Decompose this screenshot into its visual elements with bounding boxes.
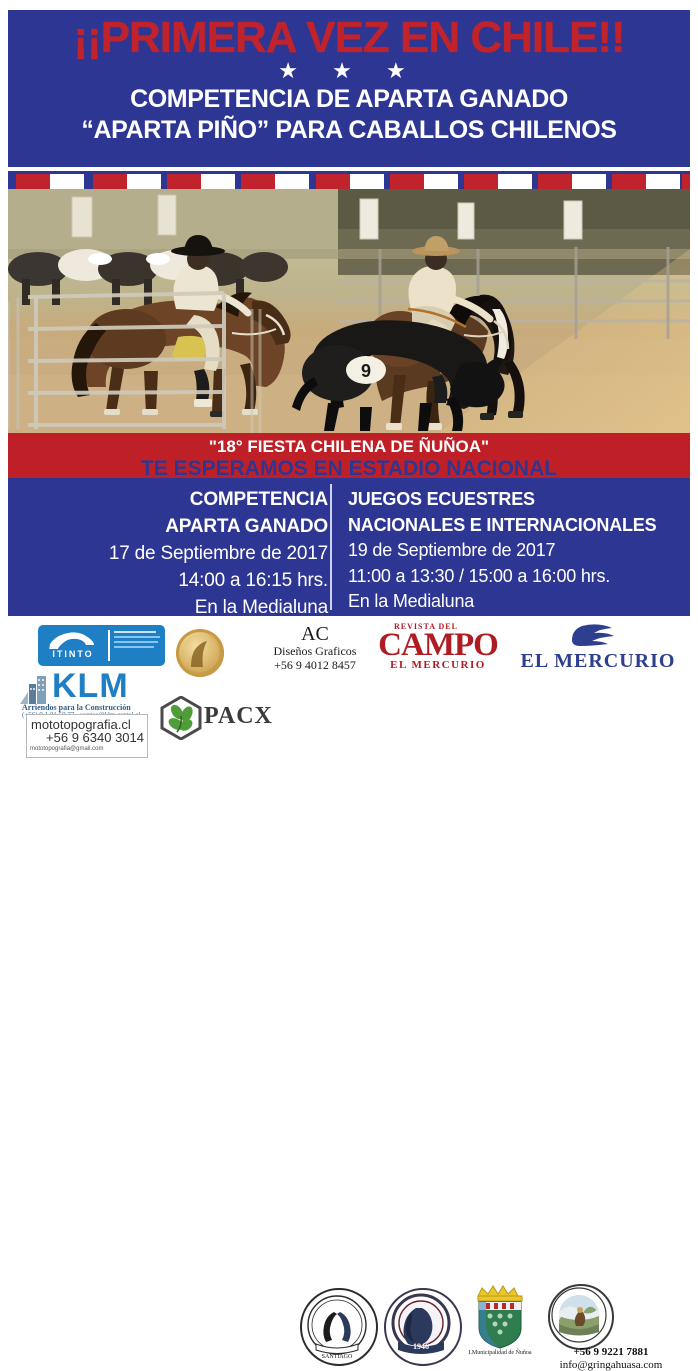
gringa-huasa-contact: +56 9 9221 7881 info@gringahuasa.com bbox=[536, 1346, 686, 1371]
sponsor-pacx-logo: PACX bbox=[160, 694, 285, 742]
poster-header: ¡¡PRIMERA VEZ EN CHILE!! ★ ★ ★ COMPETENC… bbox=[8, 10, 690, 167]
event1-date: 17 de Septiembre de 2017 bbox=[8, 541, 328, 568]
sponsor-mototopografia-box: mototopografia.cl +56 9 6340 3014 mototo… bbox=[26, 714, 148, 758]
gringa-huasa-email: info@gringahuasa.com bbox=[536, 1359, 686, 1371]
headline-competencia: COMPETENCIA DE APARTA GANADO bbox=[8, 84, 690, 115]
event2-title-line2: NACIONALES E INTERNACIONALES bbox=[348, 513, 690, 539]
banner-fiesta-title: "18° FIESTA CHILENA DE ÑUÑOA" bbox=[8, 433, 690, 457]
event-column-juegos: JUEGOS ECUESTRES NACIONALES E INTERNACIO… bbox=[348, 478, 690, 615]
sponsor-itinto-logo: ITINTO bbox=[38, 625, 165, 666]
sponsor-itinto-name: ITINTO bbox=[43, 649, 103, 659]
sponsor-seal-santiago: SANTIAGO bbox=[300, 1288, 378, 1366]
event1-title-line1: COMPETENCIA bbox=[8, 487, 328, 514]
checker-stripe bbox=[8, 171, 690, 189]
sponsor-pacx-name: PACX bbox=[204, 703, 273, 730]
headline-aparta-pino: “APARTA PIÑO” PARA CABALLOS CHILENOS bbox=[8, 115, 690, 146]
checker-block bbox=[464, 174, 498, 189]
seal-santiago-label: SANTIAGO bbox=[322, 1354, 353, 1360]
el-mercurio-name: EL MERCURIO bbox=[512, 651, 684, 671]
ac-phone: +56 9 4012 8457 bbox=[250, 659, 380, 673]
sponsor-footer: ITINTO KLM Arriendos para la Construcció… bbox=[0, 616, 698, 788]
checker-block bbox=[241, 174, 275, 189]
red-banner: "18° FIESTA CHILENA DE ÑUÑOA" TE ESPERAM… bbox=[8, 433, 690, 478]
municipalidad-label: I.Municipalidad de Ñuñoa bbox=[460, 1350, 540, 1356]
mountain-rider-photo-icon bbox=[550, 1286, 608, 1344]
checker-block bbox=[498, 174, 532, 189]
sponsor-revista-campo-logo: REVISTA DEL CAMPO EL MERCURIO bbox=[378, 622, 498, 671]
checker-block bbox=[127, 174, 161, 189]
event-info-panel: COMPETENCIA APARTA GANADO 17 de Septiemb… bbox=[8, 478, 690, 616]
checker-block bbox=[275, 174, 309, 189]
mototopografia-email: mototopografia@gmail.com bbox=[30, 746, 103, 752]
checker-block bbox=[682, 174, 690, 189]
event2-title-line1: JUEGOS ECUESTRES bbox=[348, 487, 690, 513]
buildings-icon bbox=[20, 674, 54, 704]
checker-block bbox=[538, 174, 572, 189]
banner-estadio-subtitle: TE ESPERAMOS EN ESTADIO NACIONAL bbox=[8, 457, 690, 478]
event2-venue: En la Medialuna bbox=[348, 589, 690, 615]
event2-time: 11:00 a 13:30 / 15:00 a 16:00 hrs. bbox=[348, 564, 690, 590]
checker-block bbox=[201, 174, 235, 189]
sponsor-municipalidad-nunoa: I.Municipalidad de Ñuñoa bbox=[472, 1284, 528, 1358]
horse-medal-icon bbox=[185, 637, 215, 669]
event2-date: 19 de Septiembre de 2017 bbox=[348, 538, 690, 564]
sponsor-klm-logo: KLM Arriendos para la Construcción (+56)… bbox=[18, 672, 168, 720]
horse-crest-icon: 1946 bbox=[386, 1290, 456, 1360]
column-divider bbox=[330, 484, 332, 610]
mercurio-wing-icon bbox=[568, 622, 628, 646]
sponsor-gringa-huasa-seal bbox=[548, 1284, 614, 1350]
horse-head-icon bbox=[46, 629, 98, 649]
checker-block bbox=[93, 174, 127, 189]
campo-sub: EL MERCURIO bbox=[378, 659, 498, 671]
checker-block bbox=[572, 174, 606, 189]
hexagon-leaf-icon bbox=[160, 696, 202, 740]
checker-block bbox=[424, 174, 458, 189]
campo-name: CAMPO bbox=[378, 631, 498, 659]
mototopografia-phone: +56 9 6340 3014 bbox=[46, 730, 144, 745]
event-photo: 9 bbox=[8, 189, 690, 433]
stars-decoration: ★ ★ ★ bbox=[8, 59, 690, 83]
two-horse-heads-icon: SANTIAGO bbox=[302, 1290, 372, 1360]
checker-block bbox=[316, 174, 350, 189]
checker-block bbox=[646, 174, 680, 189]
gringa-huasa-phone: +56 9 9221 7881 bbox=[536, 1346, 686, 1359]
sponsor-klm-name: KLM bbox=[52, 667, 129, 706]
coat-of-arms-icon bbox=[472, 1284, 528, 1350]
sponsor-el-mercurio-logo: EL MERCURIO bbox=[512, 622, 684, 671]
checker-block bbox=[50, 174, 84, 189]
checker-block bbox=[167, 174, 201, 189]
headline-primera-vez: ¡¡PRIMERA VEZ EN CHILE!! bbox=[8, 16, 690, 61]
event-column-competencia: COMPETENCIA APARTA GANADO 17 de Septiemb… bbox=[8, 478, 328, 622]
sponsor-gold-medal-logo bbox=[176, 629, 224, 677]
event1-title-line2: APARTA GANADO bbox=[8, 514, 328, 541]
checker-block bbox=[390, 174, 424, 189]
checker-block bbox=[350, 174, 384, 189]
steer-number-label: 9 bbox=[361, 361, 371, 381]
checker-block bbox=[16, 174, 50, 189]
poster-root: ¡¡PRIMERA VEZ EN CHILE!! ★ ★ ★ COMPETENC… bbox=[0, 0, 698, 788]
checker-block bbox=[612, 174, 646, 189]
sponsor-seal-1946: 1946 bbox=[384, 1288, 462, 1366]
sponsor-itinto-microtext bbox=[114, 631, 162, 651]
ac-line1: Diseños Graficos bbox=[250, 645, 380, 659]
sponsor-ac-disenos: AC Diseños Graficos +56 9 4012 8457 bbox=[250, 624, 380, 673]
ac-initials: AC bbox=[250, 624, 380, 645]
seal-1946-label: 1946 bbox=[413, 1342, 429, 1351]
divider-bar bbox=[108, 630, 110, 661]
event1-time: 14:00 a 16:15 hrs. bbox=[8, 568, 328, 595]
